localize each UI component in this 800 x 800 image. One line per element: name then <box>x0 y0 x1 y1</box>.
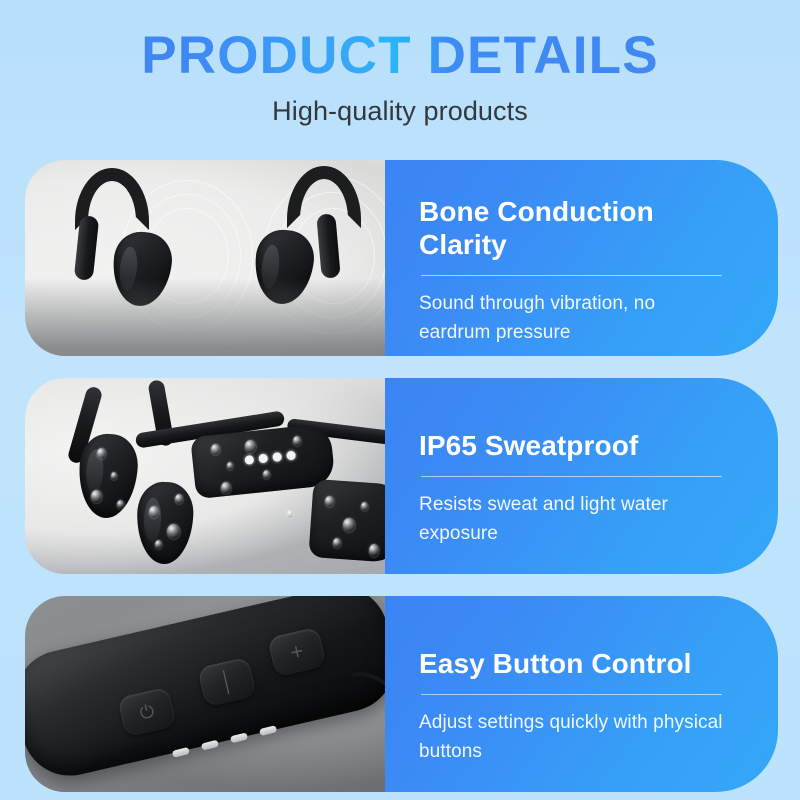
water-droplet <box>149 506 159 518</box>
led-indicator-row <box>244 451 296 465</box>
water-droplet <box>293 436 301 446</box>
ear-pad <box>76 432 140 520</box>
feature-title: Bone Conduction Clarity <box>419 195 744 261</box>
feature-description: Resists sweat and light water exposure <box>419 491 724 549</box>
feature-divider <box>421 275 722 276</box>
feature-divider <box>421 476 722 477</box>
ear-pad <box>136 481 195 565</box>
water-droplet <box>361 502 368 511</box>
water-droplet <box>111 472 117 480</box>
feature-title: Easy Button Control <box>419 647 744 680</box>
feature-card-list: Bone Conduction Clarity Sound through vi… <box>0 160 800 800</box>
water-droplet <box>167 524 180 539</box>
feature-panel-easy-button-control: Easy Button Control Adjust settings quic… <box>385 596 778 792</box>
led-indicator <box>258 454 268 464</box>
water-droplet <box>343 518 355 532</box>
bone-conduction-headphones-photo <box>25 160 385 356</box>
water-droplet <box>333 538 341 548</box>
button-control-closeup-photo: ⏻ │ + <box>25 596 385 792</box>
water-droplet <box>211 444 220 455</box>
water-droplet <box>117 500 124 509</box>
water-droplet <box>245 440 256 453</box>
water-droplet <box>263 470 270 479</box>
page-subtitle: High-quality products <box>0 96 800 127</box>
water-droplet <box>97 448 106 459</box>
water-droplet <box>227 462 233 470</box>
led-indicator <box>272 452 282 462</box>
feature-divider <box>421 694 722 695</box>
page-title: PRODUCT DETAILS <box>0 28 800 84</box>
feature-card-easy-button-control[interactable]: ⏻ │ + Easy Button Control Adjust setting… <box>0 596 800 792</box>
water-droplets-headphones-photo <box>25 378 385 574</box>
water-droplet <box>369 544 379 557</box>
feature-panel-bone-conduction: Bone Conduction Clarity Sound through vi… <box>385 160 778 356</box>
water-droplet <box>175 494 183 504</box>
feature-description: Sound through vibration, no eardrum pres… <box>419 290 724 348</box>
water-droplet <box>155 540 162 549</box>
ear-pad <box>109 229 174 309</box>
feature-description: Adjust settings quickly with physical bu… <box>419 709 724 767</box>
led-indicator <box>244 455 254 465</box>
water-droplet <box>325 496 334 507</box>
ear-pad <box>251 227 316 307</box>
feature-panel-ip65-sweatproof: IP65 Sweatproof Resists sweat and light … <box>385 378 778 574</box>
water-droplet <box>287 510 293 518</box>
feature-title: IP65 Sweatproof <box>419 429 744 462</box>
feature-card-ip65-sweatproof[interactable]: IP65 Sweatproof Resists sweat and light … <box>0 378 800 574</box>
water-droplet <box>221 482 231 494</box>
page-header: PRODUCT DETAILS High-quality products <box>0 0 800 127</box>
feature-card-bone-conduction[interactable]: Bone Conduction Clarity Sound through vi… <box>0 160 800 356</box>
led-indicator <box>286 451 296 461</box>
water-droplet <box>91 490 102 503</box>
